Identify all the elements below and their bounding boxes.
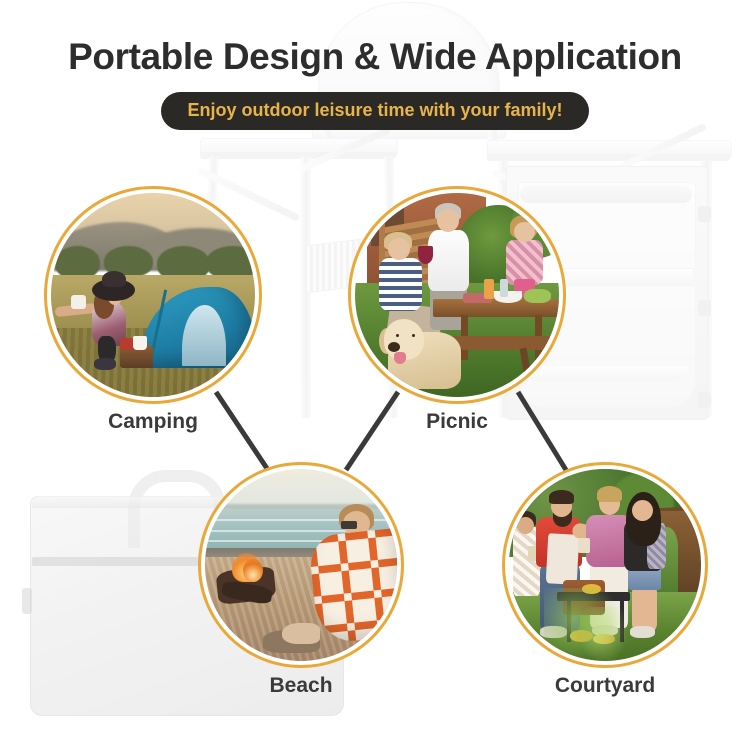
scene-label-camping: Camping	[108, 410, 198, 434]
scene-circle-picnic[interactable]: Picnic	[348, 186, 566, 404]
leg-clip	[698, 392, 711, 408]
dog-eye	[396, 334, 399, 337]
dog-eye	[412, 334, 415, 337]
campfire-flame	[243, 559, 262, 582]
scene-circle-beach[interactable]: Beach	[198, 462, 404, 668]
mug	[133, 336, 147, 350]
girl-head	[514, 222, 534, 242]
woman-white-head	[437, 209, 459, 231]
man-red-hair	[549, 490, 574, 503]
promo-banner: Portable Design & Wide Application Enjoy…	[0, 0, 750, 750]
scene-photo-beach	[205, 469, 397, 661]
scene-circle-camping[interactable]: Camping	[44, 186, 262, 404]
vegetables	[524, 289, 551, 303]
woman-legs	[632, 586, 657, 630]
sunglasses	[341, 521, 356, 529]
scene-label-courtyard: Courtyard	[555, 674, 655, 698]
scene-circle-courtyard[interactable]: Courtyard	[502, 462, 708, 668]
sun-hat-crown	[102, 271, 126, 287]
scene-photo-camping	[51, 193, 255, 397]
scene-label-beach: Beach	[269, 674, 332, 698]
scene-photo-courtyard	[509, 469, 701, 661]
table-edge-left	[200, 152, 396, 159]
cup-in-hand	[71, 295, 85, 309]
woman-head	[632, 500, 653, 521]
drink-can	[120, 338, 132, 350]
table-edge-right	[487, 154, 730, 161]
subtitle-badge: Enjoy outdoor leisure time with your fam…	[161, 92, 588, 130]
scene-label-picnic: Picnic	[426, 410, 488, 434]
woman-white-vest	[428, 230, 469, 291]
leg-clip	[698, 300, 711, 316]
subtitle-row: Enjoy outdoor leisure time with your fam…	[0, 92, 750, 130]
child-head	[517, 517, 534, 534]
page-title: Portable Design & Wide Application	[0, 36, 750, 78]
bare-feet	[282, 623, 320, 644]
man-red-apron	[546, 533, 579, 584]
dog-nose	[388, 342, 400, 352]
woman-boot	[94, 358, 116, 370]
carry-bag-zipper-pull	[22, 588, 32, 614]
water-bottle	[500, 279, 508, 297]
woman-striped-shirt	[379, 258, 422, 311]
woman-shoes	[630, 626, 655, 638]
leg-clip	[698, 206, 711, 222]
foreground-foliage-blur	[578, 607, 628, 661]
wine-glass	[418, 246, 432, 264]
man-pink-hair	[597, 486, 622, 501]
scene-photo-picnic	[355, 193, 559, 397]
drink-cup	[578, 538, 590, 553]
juice-bottle	[484, 279, 494, 299]
